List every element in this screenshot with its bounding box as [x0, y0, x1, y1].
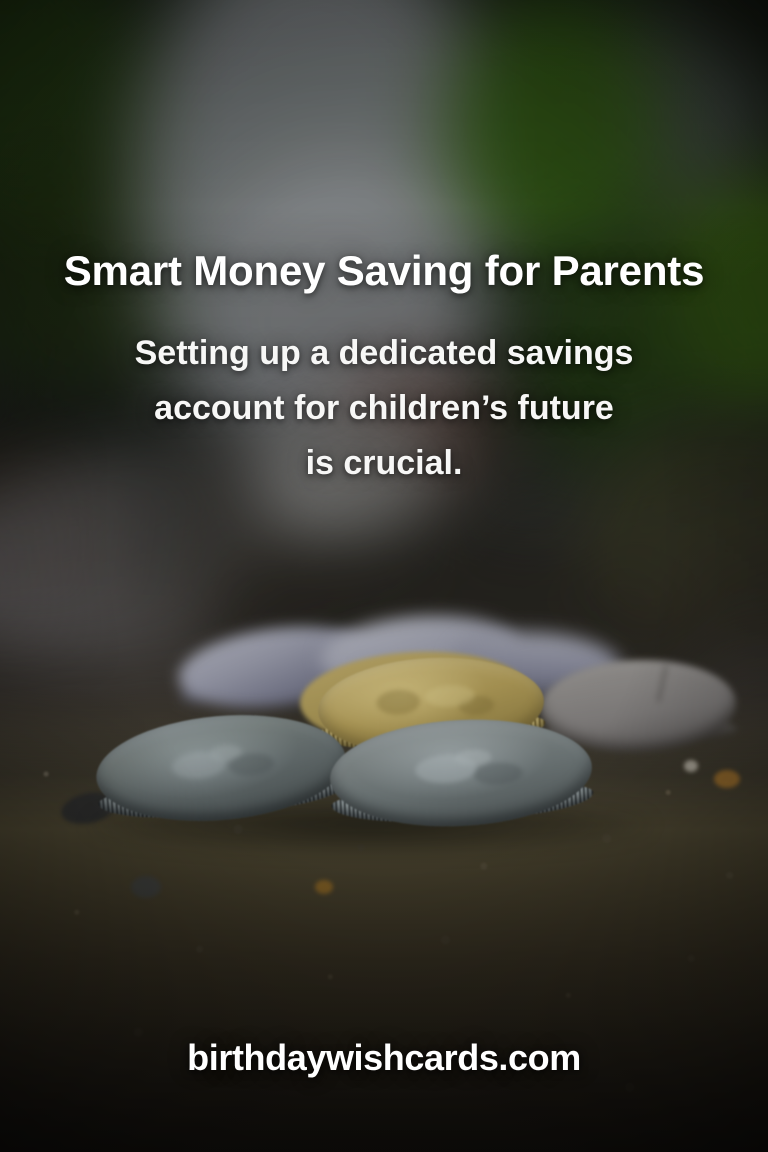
- site-watermark: birthdaywishcards.com: [0, 1037, 768, 1079]
- subtitle-line-3: is crucial.: [0, 436, 768, 491]
- subtitle-line-1: Setting up a dedicated savings: [0, 326, 768, 381]
- page-title: Smart Money Saving for Parents: [0, 250, 768, 292]
- poster-canvas: Smart Money Saving for Parents Setting u…: [0, 0, 768, 1152]
- subtitle-line-2: account for children’s future: [0, 381, 768, 436]
- subtitle-block: Setting up a dedicated savings account f…: [0, 326, 768, 491]
- text-overlay: Smart Money Saving for Parents Setting u…: [0, 0, 768, 1152]
